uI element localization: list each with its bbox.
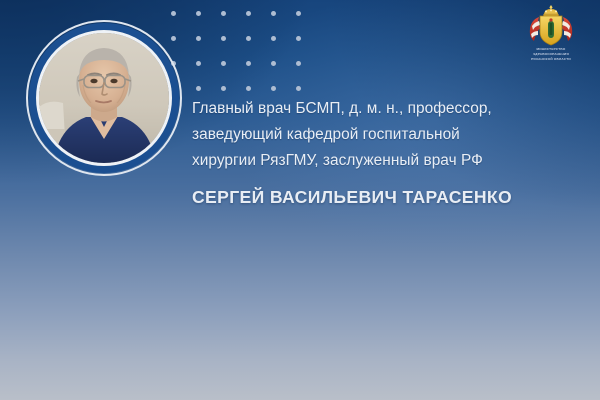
grid-dot	[246, 36, 251, 41]
grid-dot	[271, 61, 276, 66]
grid-dot	[296, 11, 301, 16]
grid-dot	[271, 36, 276, 41]
doctor-profile-card: МИНИСТЕРСТВО ЗДРАВООХРАНЕНИЯ РЯЗАНСКОЙ О…	[0, 0, 600, 400]
decorative-dot-grid	[171, 11, 306, 91]
grid-dot	[246, 61, 251, 66]
emblem-caption-line2: ЗДРАВООХРАНЕНИЯ	[524, 52, 578, 56]
doctor-title-line-1: Главный врач БСМП, д. м. н., профессор,	[192, 96, 564, 122]
grid-dot	[221, 61, 226, 66]
grid-dot	[246, 11, 251, 16]
doctor-portrait	[26, 20, 182, 176]
coat-of-arms-icon	[526, 4, 576, 46]
grid-dot	[271, 11, 276, 16]
grid-dot	[221, 36, 226, 41]
grid-dot	[221, 86, 226, 91]
grid-dot	[196, 61, 201, 66]
grid-dot	[296, 61, 301, 66]
text-block: Главный врач БСМП, д. м. н., профессор, …	[192, 96, 564, 208]
grid-dot	[221, 11, 226, 16]
grid-dot	[296, 86, 301, 91]
doctor-name: СЕРГЕЙ ВАСИЛЬЕВИЧ ТАРАСЕНКО	[192, 186, 564, 208]
portrait-photo	[39, 33, 169, 163]
grid-dot	[196, 86, 201, 91]
grid-dot	[196, 11, 201, 16]
emblem-caption-line1: МИНИСТЕРСТВО	[524, 47, 578, 51]
doctor-title-line-3: хирургии РязГМУ, заслуженный врач РФ	[192, 148, 564, 174]
grid-dot	[171, 11, 176, 16]
emblem-caption-line3: РЯЗАНСКОЙ ОБЛАСТИ	[524, 57, 578, 61]
grid-dot	[246, 86, 251, 91]
ministry-emblem: МИНИСТЕРСТВО ЗДРАВООХРАНЕНИЯ РЯЗАНСКОЙ О…	[524, 4, 578, 62]
grid-dot	[196, 36, 201, 41]
grid-dot	[296, 36, 301, 41]
grid-dot	[271, 86, 276, 91]
doctor-title-line-2: заведующий кафедрой госпитальной	[192, 122, 564, 148]
doctor-title: Главный врач БСМП, д. м. н., профессор, …	[192, 96, 564, 174]
